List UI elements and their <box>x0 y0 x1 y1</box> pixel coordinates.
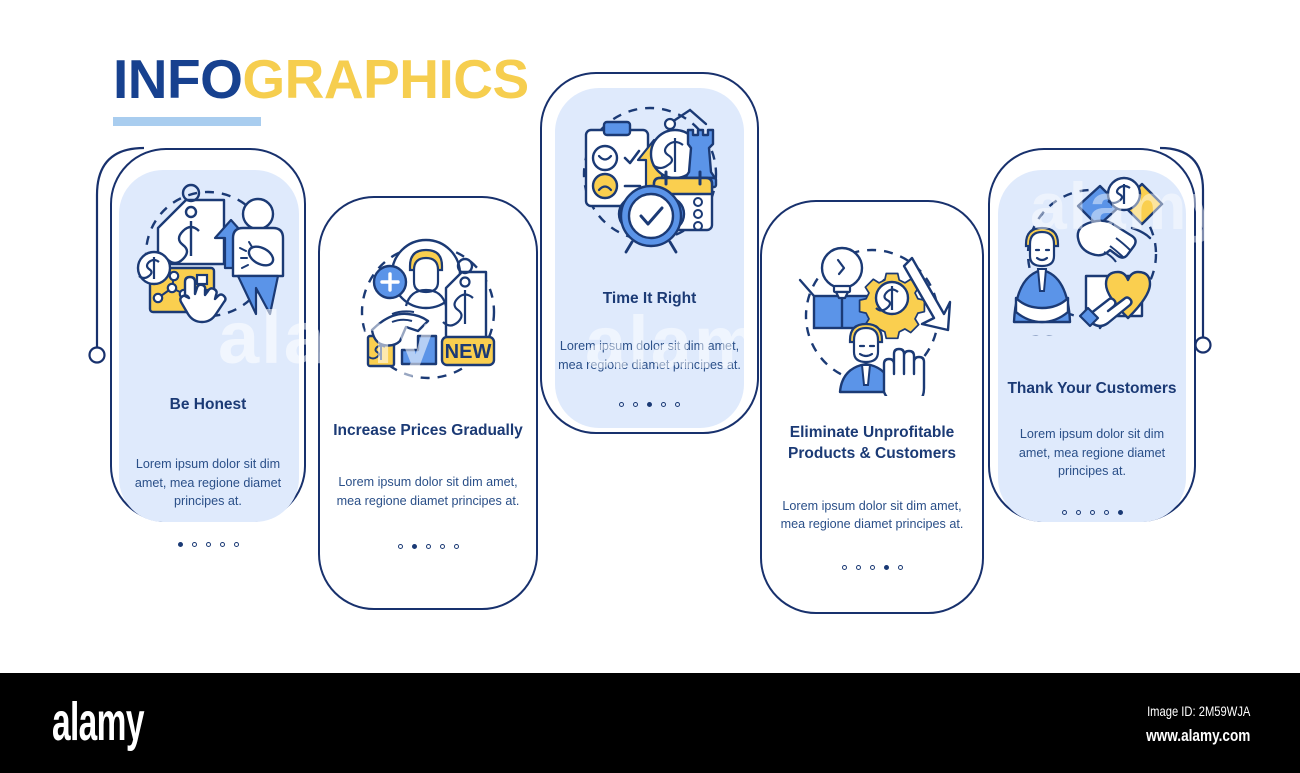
right-endpoint-icon <box>1196 338 1211 353</box>
card-title: Increase Prices Gradually <box>329 420 527 441</box>
card-body: Lorem ipsum dolor sit dim amet, mea regi… <box>1003 425 1182 480</box>
gear-dollar-stop-hand-icon <box>792 236 952 396</box>
image-id-label: Image ID: 2M59WJA <box>1146 701 1250 722</box>
card-title: Time It Right <box>551 288 748 309</box>
step-dot-1[interactable] <box>1062 510 1067 515</box>
svg-text:NEW: NEW <box>445 341 492 363</box>
step-dot-3[interactable] <box>426 544 431 549</box>
card-be-honest[interactable]: Be Honest Lorem ipsum dolor sit dim amet… <box>110 148 306 522</box>
step-dot-5[interactable] <box>454 544 459 549</box>
left-endpoint-icon <box>90 348 105 363</box>
card-title: Eliminate Unprofitable Products & Custom… <box>771 422 973 465</box>
step-dot-3[interactable] <box>206 542 211 547</box>
title-part-info: INFO <box>113 48 242 110</box>
card-body: Lorem ipsum dolor sit dim amet, mea regi… <box>555 337 743 374</box>
step-dot-2[interactable] <box>1076 510 1081 515</box>
card-eliminate-unprofitable[interactable]: Eliminate Unprofitable Products & Custom… <box>760 200 984 614</box>
step-dot-2[interactable] <box>412 544 417 549</box>
step-dot-4[interactable] <box>661 402 666 407</box>
step-dot-5[interactable] <box>234 542 239 547</box>
alamy-url[interactable]: www.alamy.com <box>1146 722 1250 749</box>
step-dot-1[interactable] <box>619 402 624 407</box>
card-time-it-right[interactable]: Time It Right Lorem ipsum dolor sit dim … <box>540 72 759 434</box>
title-part-graphics: GRAPHICS <box>242 48 528 110</box>
card-title: Be Honest <box>120 394 296 415</box>
step-dot-1[interactable] <box>842 565 847 570</box>
card-thank-your-customers[interactable]: Thank Your Customers Lorem ipsum dolor s… <box>988 148 1196 522</box>
step-dot-5[interactable] <box>675 402 680 407</box>
step-dot-4[interactable] <box>1104 510 1109 515</box>
step-dot-5[interactable] <box>898 565 903 570</box>
alamy-logo: alamy <box>52 695 144 749</box>
card-title: Thank Your Customers <box>998 378 1185 399</box>
alarm-clock-calendar-icon <box>570 96 730 256</box>
step-dot-1[interactable] <box>398 544 403 549</box>
step-dots[interactable] <box>178 542 239 547</box>
title-text: INFOGRAPHICS <box>113 52 529 107</box>
footer-meta: Image ID: 2M59WJA www.alamy.com <box>1120 701 1250 749</box>
new-price-tag-stairs-icon: NEW <box>348 232 508 392</box>
step-dot-2[interactable] <box>633 402 638 407</box>
step-dot-5[interactable] <box>1118 510 1123 515</box>
page-title: INFOGRAPHICS <box>113 52 529 126</box>
step-dot-2[interactable] <box>856 565 861 570</box>
title-underline <box>113 117 261 126</box>
card-body: Lorem ipsum dolor sit dim amet, mea regi… <box>333 473 522 510</box>
step-dot-3[interactable] <box>647 402 652 407</box>
footer-bar: alamy Image ID: 2M59WJA www.alamy.com <box>0 673 1300 773</box>
step-dot-1[interactable] <box>178 542 183 547</box>
handshake-heart-icon <box>1012 176 1172 336</box>
step-dot-3[interactable] <box>1090 510 1095 515</box>
step-dots[interactable] <box>619 402 680 407</box>
card-body: Lorem ipsum dolor sit dim amet, mea regi… <box>124 455 293 510</box>
step-dot-2[interactable] <box>192 542 197 547</box>
step-dot-4[interactable] <box>440 544 445 549</box>
price-tag-honest-icon <box>128 176 288 336</box>
card-increase-prices-gradually[interactable]: NEW Increase Prices Gradually Lorem ipsu… <box>318 196 538 610</box>
infographic-canvas: INFOGRAPHICS <box>0 0 1300 673</box>
step-dots[interactable] <box>398 544 459 549</box>
step-dot-4[interactable] <box>220 542 225 547</box>
card-body: Lorem ipsum dolor sit dim amet, mea regi… <box>776 497 969 534</box>
step-dots[interactable] <box>842 565 903 570</box>
step-dots[interactable] <box>1062 510 1123 515</box>
step-dot-4[interactable] <box>884 565 889 570</box>
step-dot-3[interactable] <box>870 565 875 570</box>
